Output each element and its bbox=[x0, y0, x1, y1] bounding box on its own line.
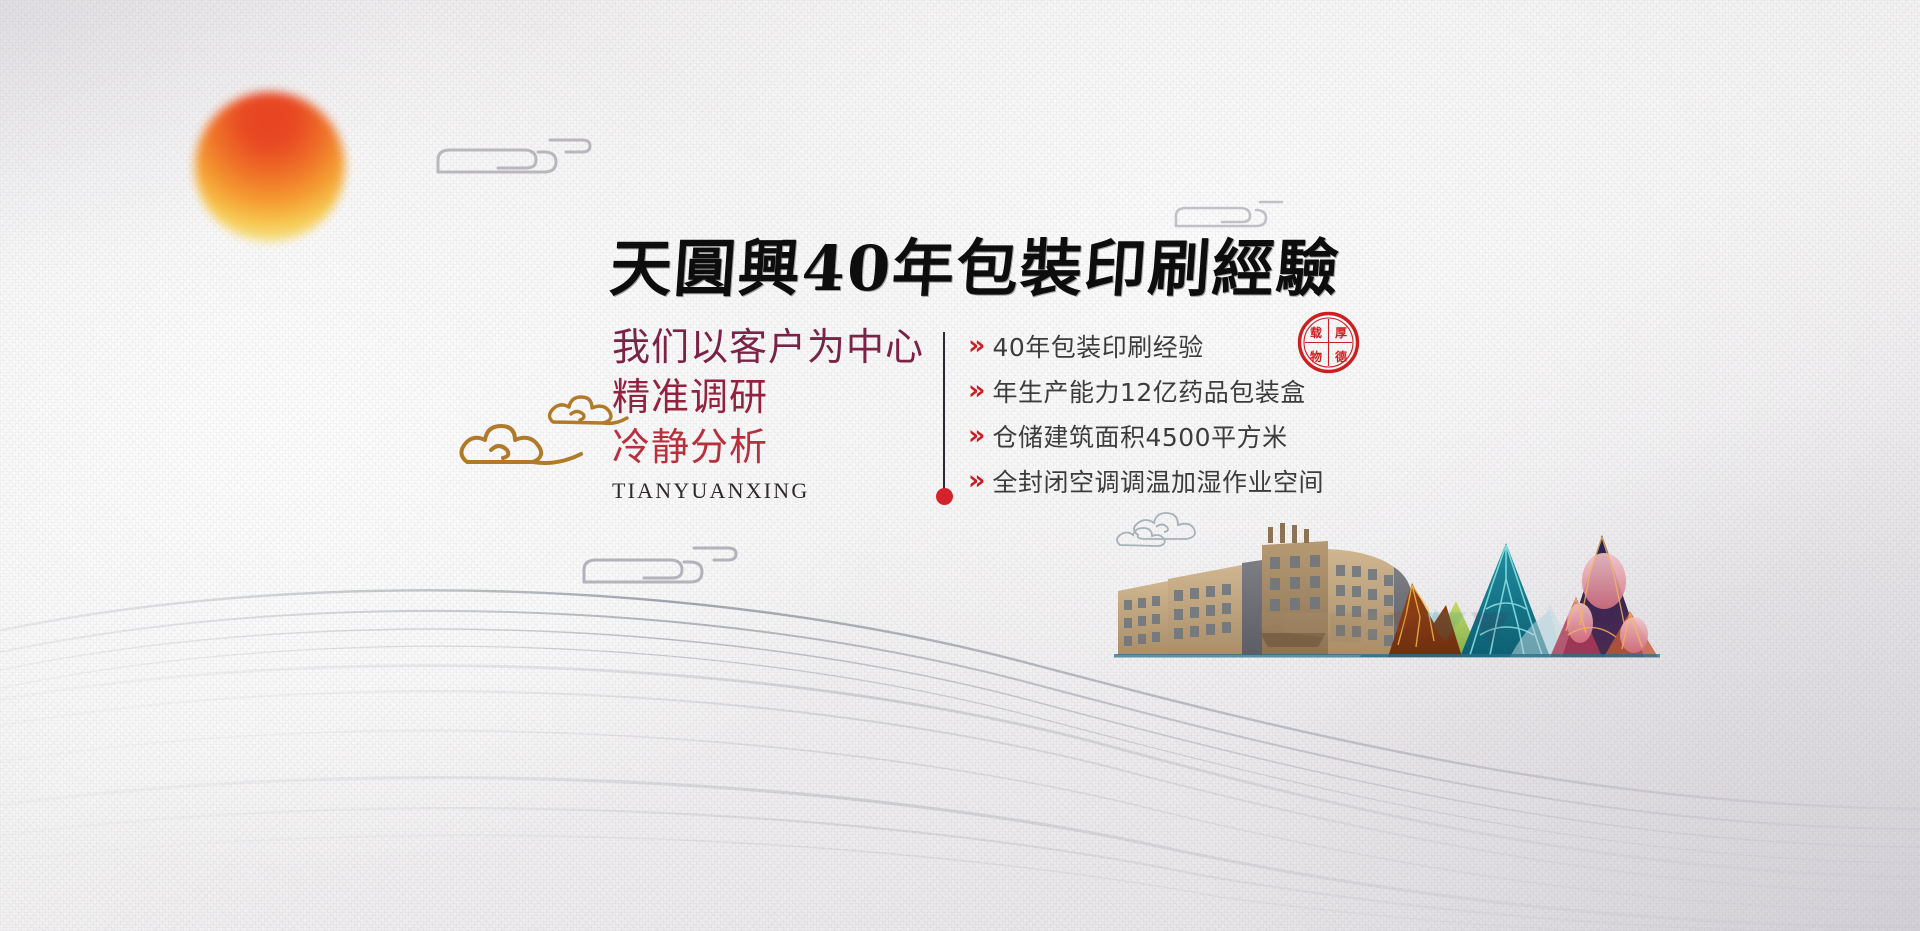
seal-char-4: 德 bbox=[1335, 349, 1347, 364]
cloud-motif-icon bbox=[578, 540, 738, 596]
double-chevron-icon: » bbox=[968, 467, 985, 494]
list-item-label: 仓储建筑面积4500平方米 bbox=[992, 418, 1287, 454]
red-seal-stamp-icon: 载 厚 物 德 bbox=[1297, 311, 1360, 374]
slogan-line-3: 冷静分析 bbox=[612, 422, 952, 472]
list-item: » 年生产能力12亿药品包装盒 bbox=[968, 370, 1324, 412]
double-chevron-icon: » bbox=[968, 377, 985, 404]
seal-char-2: 厚 bbox=[1335, 326, 1347, 340]
list-item-label: 40年包装印刷经验 bbox=[992, 328, 1203, 364]
rising-sun-icon bbox=[195, 92, 345, 242]
list-item: » 全封闭空调调温加湿作业空间 bbox=[968, 460, 1324, 502]
double-chevron-icon: » bbox=[968, 332, 985, 359]
page-title: 天圓興40年包裝印刷經驗 bbox=[608, 238, 1343, 300]
list-item: » 仓储建筑面积4500平方米 bbox=[968, 415, 1324, 457]
double-chevron-icon: » bbox=[968, 422, 985, 449]
cloud-motif-icon bbox=[432, 132, 592, 188]
list-item: » 40年包装印刷经验 bbox=[968, 325, 1324, 367]
seal-char-3: 物 bbox=[1310, 349, 1322, 364]
illustration-reflection bbox=[1110, 603, 1670, 653]
hero-banner: 天圓興40年包裝印刷經驗 我们以客户为中心 精准调研 冷静分析 TIANYUAN… bbox=[0, 0, 1920, 931]
list-item-label: 年生产能力12亿药品包装盒 bbox=[992, 373, 1305, 409]
vertical-divider bbox=[943, 332, 945, 492]
feature-list: » 40年包装印刷经验 » 年生产能力12亿药品包装盒 » 仓储建筑面积4500… bbox=[968, 325, 1324, 505]
seal-char-1: 载 bbox=[1310, 325, 1322, 340]
slogan-line-1: 我们以客户为中心 bbox=[612, 322, 952, 372]
factory-building-and-mountains-illustration bbox=[1110, 505, 1670, 695]
slogan-block: 我们以客户为中心 精准调研 冷静分析 TIANYUANXING bbox=[612, 322, 952, 504]
divider-dot bbox=[936, 488, 953, 505]
list-item-label: 全封闭空调调温加湿作业空间 bbox=[992, 463, 1324, 499]
slogan-line-2: 精准调研 bbox=[612, 372, 952, 422]
brand-romanization: TIANYUANXING bbox=[612, 478, 952, 504]
